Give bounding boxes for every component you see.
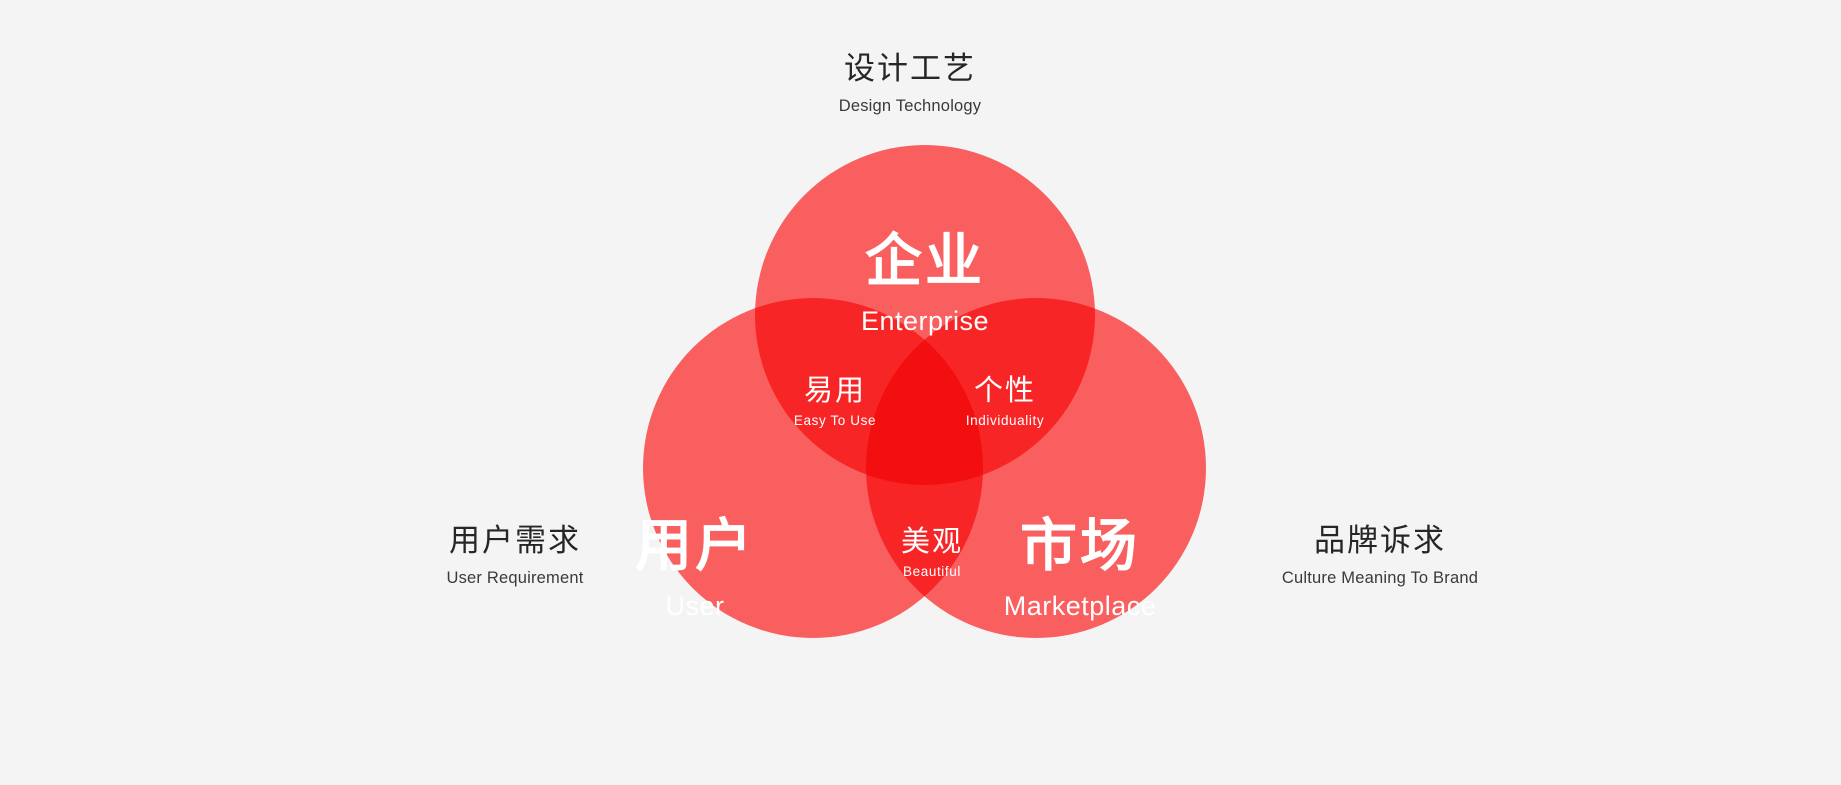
annotation-culture-meaning-to-brand-en: Culture Meaning To Brand bbox=[1180, 568, 1580, 589]
venn-label-enterprise-cn: 企业 bbox=[775, 230, 1075, 293]
venn-intersection-beautiful-en: Beautiful bbox=[822, 565, 1042, 580]
venn-intersection-beautiful-cn: 美观 bbox=[822, 527, 1042, 559]
venn-intersection-individuality-cn: 个性 bbox=[895, 376, 1115, 408]
venn-intersection-individuality-en: Individuality bbox=[895, 414, 1115, 429]
venn-label-enterprise-en: Enterprise bbox=[775, 307, 1075, 337]
annotation-design-technology: 设计工艺 Design Technology bbox=[750, 50, 1070, 116]
venn-diagram: 企业 Enterprise 用户 User 市场 Marketplace 易用 … bbox=[0, 0, 1841, 785]
venn-intersection-beautiful: 美观 Beautiful bbox=[822, 527, 1042, 580]
annotation-user-requirement: 用户需求 User Requirement bbox=[355, 522, 675, 588]
annotation-design-technology-cn: 设计工艺 bbox=[750, 50, 1070, 89]
venn-label-user-en: User bbox=[545, 592, 845, 622]
venn-label-enterprise: 企业 Enterprise bbox=[775, 230, 1075, 336]
venn-label-marketplace-en: Marketplace bbox=[930, 592, 1230, 622]
annotation-culture-meaning-to-brand-cn: 品牌诉求 bbox=[1180, 522, 1580, 561]
annotation-culture-meaning-to-brand: 品牌诉求 Culture Meaning To Brand bbox=[1180, 522, 1580, 588]
annotation-user-requirement-cn: 用户需求 bbox=[355, 522, 675, 561]
annotation-user-requirement-en: User Requirement bbox=[355, 568, 675, 589]
annotation-design-technology-en: Design Technology bbox=[750, 96, 1070, 117]
venn-intersection-individuality: 个性 Individuality bbox=[895, 376, 1115, 429]
